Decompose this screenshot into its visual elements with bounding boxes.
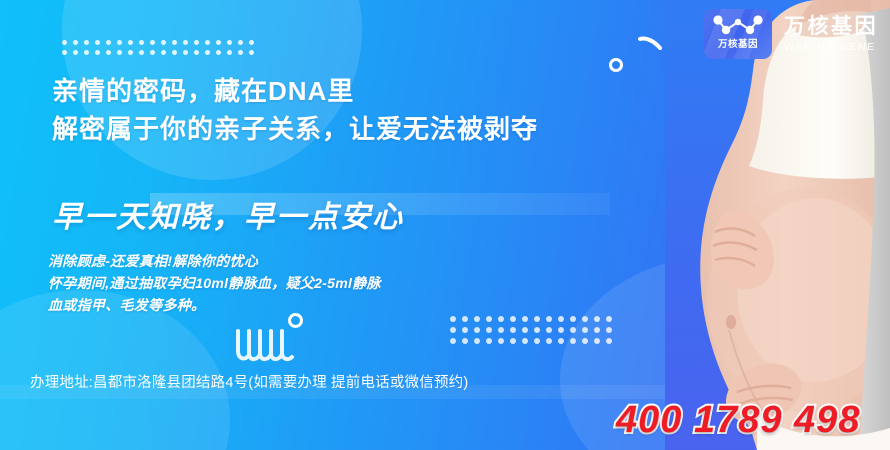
body-line-3: 血或指甲、毛发等多种。 — [48, 294, 381, 316]
decor-dot-grid-middle — [450, 316, 618, 349]
headline-line-2: 解密属于你的亲子关系，让爱无法被剥夺 — [52, 110, 538, 148]
decor-dot-grid-top — [62, 40, 260, 60]
slogan: 早一天知晓，早一点安心 — [52, 192, 404, 236]
headline: 亲情的密码，藏在DNA里 解密属于你的亲子关系，让爱无法被剥夺 — [52, 72, 538, 148]
decor-ring-icon-right — [609, 58, 623, 72]
pregnant-woman-photo — [665, 0, 890, 450]
body-line-1: 消除顾虑-还爱真相!解除你的忧心 — [48, 250, 381, 272]
logo-name-en: WAN HE GENE — [784, 42, 878, 53]
body-copy: 消除顾虑-还爱真相!解除你的忧心 怀孕期间,通过抽取孕妇10ml静脉血，疑父2-… — [48, 250, 381, 316]
logo-name-cn: 万核基因 — [784, 16, 878, 37]
brand-logo[interactable]: 万核基因 万核基因 WAN HE GENE — [704, 8, 878, 60]
address-line: 办理地址:昌都市洛隆县团结路4号(如需要办理 提前电话或微信预约) — [30, 371, 468, 392]
logo-badge: 万核基因 — [704, 9, 772, 59]
promo-banner: 万核基因 万核基因 WAN HE GENE 亲情的密码，藏在DNA里 解密属于你… — [0, 0, 890, 450]
body-line-2: 怀孕期间,通过抽取孕妇10ml静脉血，疑父2-5ml静脉 — [48, 272, 381, 294]
phone-number[interactable]: 400 1789 498 — [616, 399, 860, 442]
molecule-icon — [710, 13, 766, 39]
logo-wordmark: 万核基因 WAN HE GENE — [784, 16, 878, 53]
decor-wave-icon — [233, 327, 303, 367]
headline-line-1: 亲情的密码，藏在DNA里 — [52, 72, 538, 110]
logo-badge-label: 万核基因 — [718, 40, 758, 50]
decor-stroke-icon — [638, 36, 662, 50]
